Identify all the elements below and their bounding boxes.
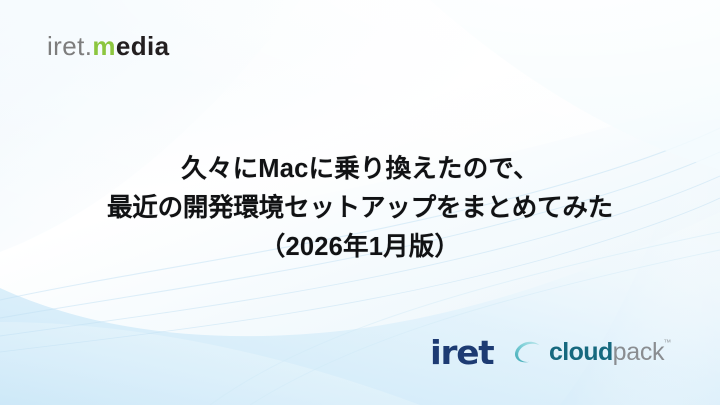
slide-canvas: iret.media 久々にMacに乗り換えたので、 最近の開発環境セットアップ… [0, 0, 720, 405]
cloudpack-logo: cloudpack™ [513, 340, 664, 365]
title-line-1: 久々にMacに乗り換えたので、 [0, 150, 720, 189]
cloudpack-wordmark: cloudpack™ [549, 340, 664, 365]
slide-title: 久々にMacに乗り換えたので、 最近の開発環境セットアップをまとめてみた （20… [0, 150, 720, 267]
cloudpack-text-pack: pack [613, 338, 665, 366]
title-line-2: 最近の開発環境セットアップをまとめてみた [0, 189, 720, 228]
cloudpack-swoosh-icon [513, 340, 543, 364]
logo-text-m: m [92, 31, 116, 61]
logo-text-edia: edia [116, 31, 170, 61]
iret-logo: iret [430, 336, 493, 369]
cloudpack-text-cloud: cloud [549, 338, 613, 366]
iret-media-logo: iret.media [47, 33, 170, 59]
logo-text-iret: iret [47, 31, 85, 61]
footer-logo-group: iret cloudpack™ [430, 334, 664, 370]
cloudpack-trademark: ™ [663, 339, 671, 347]
title-line-3: （2026年1月版） [0, 228, 720, 267]
